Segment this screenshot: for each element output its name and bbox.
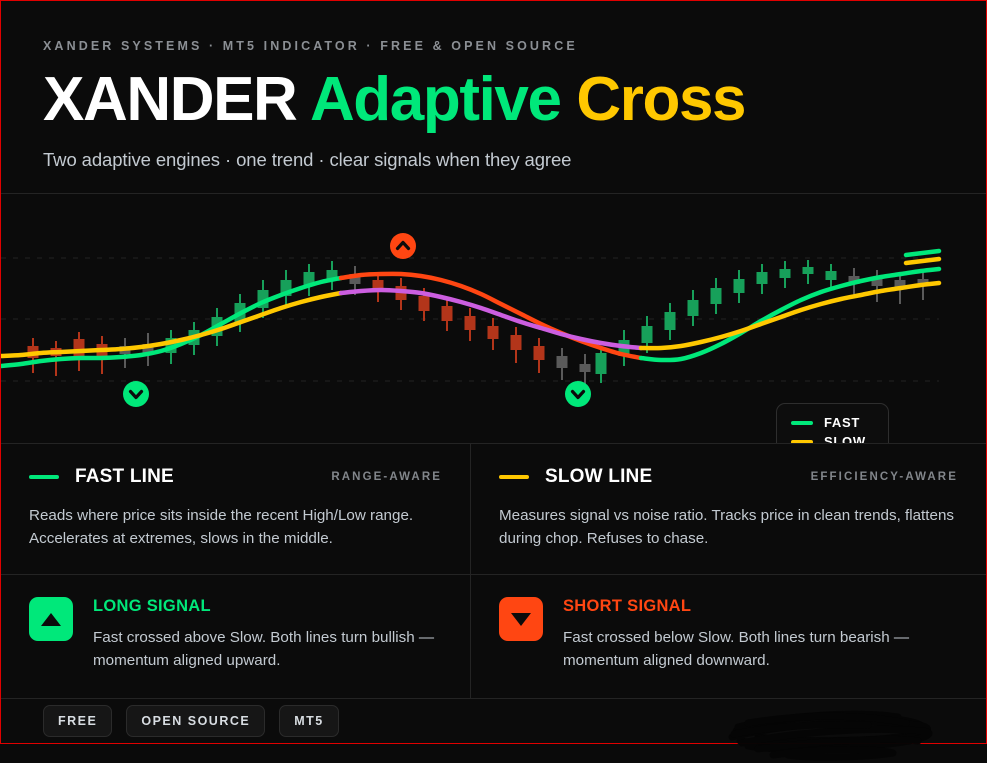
feature-card-header: FAST LINE RANGE-AWARE <box>29 466 442 488</box>
feature-body: Reads where price sits inside the recent… <box>29 504 442 550</box>
signal-body: Fast crossed below Slow. Both lines turn… <box>563 626 958 672</box>
chart-marker-chevron-down[interactable] <box>123 381 149 407</box>
legend-label-slow: SLOW <box>824 434 866 443</box>
badge-list: FREEOPEN SOURCEMT5 <box>43 705 339 737</box>
legend-item-fast: FAST <box>791 413 866 432</box>
candlestick <box>143 333 154 366</box>
feature-card-header: SLOW LINE EFFICIENCY-AWARE <box>499 466 958 488</box>
candlestick <box>442 298 453 331</box>
feature-title: SLOW LINE <box>545 466 652 488</box>
chart-series-stub-0 <box>906 251 939 255</box>
signal-card-short: SHORT SIGNAL Fast crossed below Slow. Bo… <box>471 575 986 698</box>
legend-item-slow: SLOW <box>791 432 866 443</box>
triangle-up-glyph <box>41 613 61 626</box>
feature-grid: FAST LINE RANGE-AWARE Reads where price … <box>1 444 986 574</box>
candlestick <box>488 318 499 350</box>
candlestick <box>97 336 108 374</box>
badge-free[interactable]: FREE <box>43 705 112 737</box>
candlestick <box>665 303 676 340</box>
badge-mt5[interactable]: MT5 <box>279 705 339 737</box>
candlestick <box>534 338 545 373</box>
chart-marker-chevron-up[interactable] <box>390 233 416 259</box>
triangle-down-glyph <box>511 613 531 626</box>
candlestick <box>327 261 338 290</box>
title-word-cross: Cross <box>576 65 745 134</box>
triangle-down-icon <box>499 597 543 641</box>
candlestick <box>120 338 131 368</box>
feature-body: Measures signal vs noise ratio. Tracks p… <box>499 504 958 550</box>
candlestick <box>557 348 568 380</box>
candlestick <box>688 290 699 326</box>
signal-grid: LONG SIGNAL Fast crossed above Slow. Bot… <box>1 575 986 698</box>
candlestick <box>511 327 522 363</box>
page-subtitle: Two adaptive engines · one trend · clear… <box>43 149 944 171</box>
triangle-up-icon <box>29 597 73 641</box>
legend-swatch-fast <box>791 421 813 425</box>
feature-tag: RANGE-AWARE <box>331 471 442 483</box>
chart-series-stub-1 <box>906 259 939 263</box>
candlestick <box>580 354 591 384</box>
scribble-redaction-icon <box>718 703 968 763</box>
title-word-adaptive: Adaptive <box>310 65 561 134</box>
legend-label-fast: FAST <box>824 415 860 430</box>
page-header: XANDER SYSTEMS · MT5 INDICATOR · FREE & … <box>1 1 986 193</box>
signal-body: Fast crossed above Slow. Both lines turn… <box>93 626 442 672</box>
badge-open-source[interactable]: OPEN SOURCE <box>126 705 265 737</box>
slow-line-swatch <box>499 475 529 479</box>
signal-text-block: LONG SIGNAL Fast crossed above Slow. Bot… <box>93 597 442 672</box>
candlestick <box>373 272 384 302</box>
signal-card-long: LONG SIGNAL Fast crossed above Slow. Bot… <box>1 575 470 698</box>
eyebrow-text: XANDER SYSTEMS · MT5 INDICATOR · FREE & … <box>43 39 944 53</box>
candlestick <box>711 278 722 314</box>
feature-title: FAST LINE <box>75 466 174 488</box>
price-chart: FAST SLOW <box>1 194 986 443</box>
feature-card-fast-line: FAST LINE RANGE-AWARE Reads where price … <box>1 444 470 574</box>
chart-legend: FAST SLOW <box>776 403 889 443</box>
candlestick <box>281 270 292 305</box>
feature-tag: EFFICIENCY-AWARE <box>811 471 958 483</box>
title-word-brand: XANDER <box>43 65 296 134</box>
candlestick <box>757 264 768 294</box>
candlestick <box>780 261 791 288</box>
signal-title: SHORT SIGNAL <box>563 597 958 616</box>
candlestick <box>734 270 745 303</box>
legend-swatch-slow <box>791 440 813 444</box>
page-footer: FREEOPEN SOURCEMT5 <box>1 699 986 743</box>
page-title: XANDER Adaptive Cross <box>43 69 944 131</box>
feature-card-slow-line: SLOW LINE EFFICIENCY-AWARE Measures sign… <box>471 444 986 574</box>
candlestick <box>304 264 315 296</box>
candlestick <box>803 260 814 284</box>
signal-title: LONG SIGNAL <box>93 597 442 616</box>
chart-marker-chevron-down[interactable] <box>565 381 591 407</box>
candlestick <box>396 278 407 310</box>
landing-page: XANDER SYSTEMS · MT5 INDICATOR · FREE & … <box>1 1 986 743</box>
signal-text-block: SHORT SIGNAL Fast crossed below Slow. Bo… <box>563 597 958 672</box>
candlestick <box>465 308 476 341</box>
fast-line-swatch <box>29 475 59 479</box>
